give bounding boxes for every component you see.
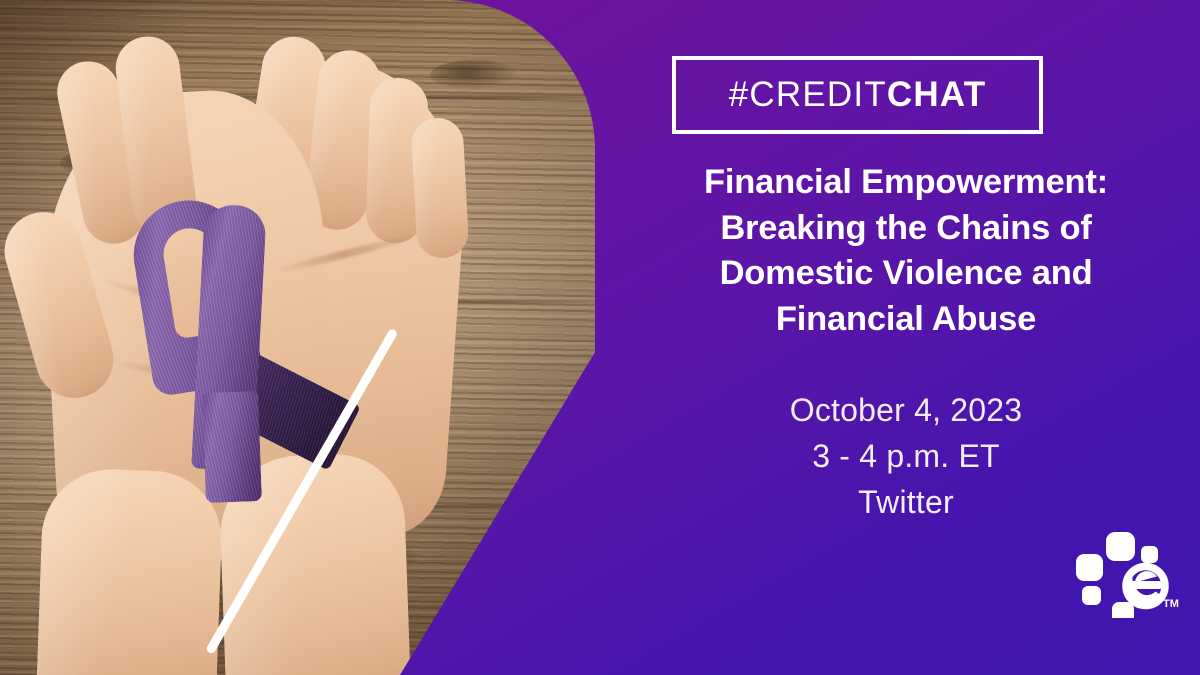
ribbon-tail-left: [202, 391, 262, 503]
forearm-left: [36, 467, 224, 675]
creditchat-badge: #CREDITCHAT: [672, 56, 1043, 134]
experian-logo: TM: [1070, 528, 1182, 618]
wood-knot: [430, 60, 520, 90]
trademark-mark: TM: [1163, 598, 1179, 610]
content-panel: #CREDITCHAT Financial Empowerment: Break…: [610, 0, 1200, 675]
title-line-1: Financial Empowerment:: [628, 160, 1184, 206]
hero-photo: [0, 0, 600, 675]
badge-bold-text: CHAT: [887, 75, 986, 114]
event-platform: Twitter: [628, 480, 1184, 526]
event-details: October 4, 2023 3 - 4 p.m. ET Twitter: [628, 388, 1184, 525]
page-title: Financial Empowerment: Breaking the Chai…: [628, 160, 1184, 342]
title-line-2: Breaking the Chains of: [628, 206, 1184, 252]
creditchat-badge-label: #CREDITCHAT: [729, 75, 987, 115]
promo-graphic: #CREDITCHAT Financial Empowerment: Break…: [0, 0, 1200, 675]
event-date: October 4, 2023: [628, 388, 1184, 434]
title-line-3: Domestic Violence and: [628, 251, 1184, 297]
finger: [410, 117, 469, 260]
event-time: 3 - 4 p.m. ET: [628, 434, 1184, 480]
title-line-4: Financial Abuse: [628, 297, 1184, 343]
badge-hashtag-text: #CREDIT: [729, 75, 887, 114]
